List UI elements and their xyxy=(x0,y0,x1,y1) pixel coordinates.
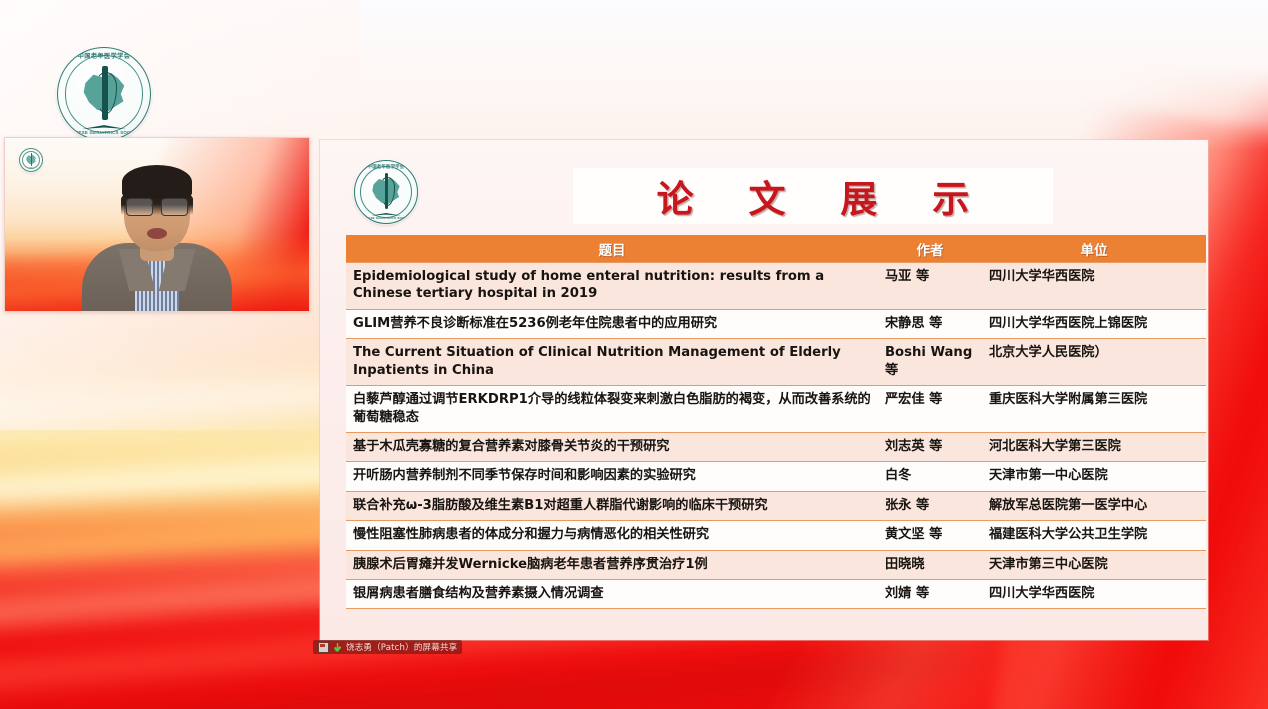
column-header-institution: 单位 xyxy=(982,235,1206,263)
cell-institution: 四川大学华西医院上锦医院 xyxy=(982,309,1206,338)
table-header-row: 题目 作者 单位 xyxy=(346,235,1206,263)
cell-title: 联合补充ω-3脂肪酸及维生素B1对超重人群脂代谢影响的临床干预研究 xyxy=(346,491,878,520)
society-logo-icon: 中国老年医学学会 CHINESE GERIATRICS SOCIETY xyxy=(57,47,151,141)
table-row: 慢性阻塞性肺病患者的体成分和握力与病情恶化的相关性研究 黄文坚 等 福建医科大学… xyxy=(346,521,1206,550)
cell-title: The Current Situation of Clinical Nutrit… xyxy=(346,339,878,386)
screen-share-status-text: 饶志勇（Patch）的屏幕共享 xyxy=(346,641,457,653)
cell-author: 刘婧 等 xyxy=(878,580,982,609)
cell-author: 张永 等 xyxy=(878,491,982,520)
hand-icon xyxy=(333,643,342,652)
cell-author: 田晓晓 xyxy=(878,550,982,579)
cell-title: 开听肠内营养制剂不同季节保存时间和影响因素的实验研究 xyxy=(346,462,878,491)
caduceus-rod-shape xyxy=(31,153,32,166)
cell-institution: 天津市第三中心医院 xyxy=(982,550,1206,579)
cell-title: 银屑病患者膳食结构及营养素摄入情况调查 xyxy=(346,580,878,609)
cell-author: 刘志英 等 xyxy=(878,432,982,461)
table-row: 银屑病患者膳食结构及营养素摄入情况调查 刘婧 等 四川大学华西医院 xyxy=(346,580,1206,609)
cell-institution: 解放军总医院第一医学中心 xyxy=(982,491,1206,520)
table-row: 基于木瓜壳寡糖的复合营养素对膝骨关节炎的干预研究 刘志英 等 河北医科大学第三医… xyxy=(346,432,1206,461)
speaker-video-tile[interactable] xyxy=(4,137,310,312)
cell-title: 胰腺术后胃瘫并发Wernicke脑病老年患者营养序贯治疗1例 xyxy=(346,550,878,579)
cell-title: 基于木瓜壳寡糖的复合营养素对膝骨关节炎的干预研究 xyxy=(346,432,878,461)
table-row: 白藜芦醇通过调节ERKDRP1介导的线粒体裂变来刺激白色脂肪的褐变，从而改善系统… xyxy=(346,386,1206,433)
open-book-shape xyxy=(26,166,37,168)
society-logo-name-cn: 中国老年医学学会 xyxy=(58,54,150,60)
society-logo-name-cn: 中国老年医学学会 xyxy=(355,165,417,169)
society-logo-icon-small xyxy=(19,148,43,172)
cell-author: 白冬 xyxy=(878,462,982,491)
cell-institution: 北京大学人民医院） xyxy=(982,339,1206,386)
monitor-icon xyxy=(318,642,329,653)
cell-title: Epidemiological study of home enteral nu… xyxy=(346,263,878,310)
cell-institution: 河北医科大学第三医院 xyxy=(982,432,1206,461)
open-book-shape xyxy=(82,119,126,129)
cell-author: 马亚 等 xyxy=(878,263,982,310)
table-row: Epidemiological study of home enteral nu… xyxy=(346,263,1206,310)
table-row: 胰腺术后胃瘫并发Wernicke脑病老年患者营养序贯治疗1例 田晓晓 天津市第三… xyxy=(346,550,1206,579)
paper-list-table: 题目 作者 单位 Epidemiological study of home e… xyxy=(346,235,1206,609)
column-header-author: 作者 xyxy=(878,235,982,263)
cell-author: 严宏佳 等 xyxy=(878,386,982,433)
screen-share-status-bar[interactable]: 饶志勇（Patch）的屏幕共享 xyxy=(313,640,462,654)
column-header-title: 题目 xyxy=(346,235,878,263)
speaker-glasses xyxy=(126,198,188,215)
slide-title: 论 文 展 示 xyxy=(636,169,991,223)
speaker-figure xyxy=(82,161,232,311)
cell-institution: 天津市第一中心医院 xyxy=(982,462,1206,491)
meeting-screen-share-view: 中国老年医学学会 CHINESE GERIATRICS SOCIETY xyxy=(0,0,1268,709)
table-row: GLIM营养不良诊断标准在5236例老年住院患者中的应用研究 宋静思 等 四川大… xyxy=(346,309,1206,338)
cell-author: 宋静思 等 xyxy=(878,309,982,338)
cell-institution: 四川大学华西医院 xyxy=(982,580,1206,609)
slide-title-banner: 论 文 展 示 xyxy=(573,168,1053,224)
speaker-mouth xyxy=(147,228,167,239)
speaker-hair xyxy=(122,165,192,199)
shared-slide[interactable]: 中国老年医学学会 CHINESE GERIATRICS SOCIETY 论 文 … xyxy=(320,140,1208,640)
cell-title: 白藜芦醇通过调节ERKDRP1介导的线粒体裂变来刺激白色脂肪的褐变，从而改善系统… xyxy=(346,386,878,433)
open-book-shape xyxy=(371,209,401,216)
glasses-lens-left xyxy=(126,198,153,216)
caduceus-snake-shape xyxy=(380,177,396,206)
society-logo-name-en: CHINESE GERIATRICS SOCIETY xyxy=(58,131,150,135)
cell-institution: 福建医科大学公共卫生学院 xyxy=(982,521,1206,550)
cell-title: GLIM营养不良诊断标准在5236例老年住院患者中的应用研究 xyxy=(346,309,878,338)
caduceus-snake-shape xyxy=(95,72,117,114)
table-row: 开听肠内营养制剂不同季节保存时间和影响因素的实验研究 白冬 天津市第一中心医院 xyxy=(346,462,1206,491)
glasses-lens-right xyxy=(161,198,188,216)
cell-institution: 重庆医科大学附属第三医院 xyxy=(982,386,1206,433)
table-row: 联合补充ω-3脂肪酸及维生素B1对超重人群脂代谢影响的临床干预研究 张永 等 解… xyxy=(346,491,1206,520)
cell-institution: 四川大学华西医院 xyxy=(982,263,1206,310)
society-logo-name-en: CHINESE GERIATRICS SOCIETY xyxy=(355,217,417,220)
cell-title: 慢性阻塞性肺病患者的体成分和握力与病情恶化的相关性研究 xyxy=(346,521,878,550)
slide-society-logo-icon: 中国老年医学学会 CHINESE GERIATRICS SOCIETY xyxy=(354,160,418,224)
cell-author: 黄文坚 等 xyxy=(878,521,982,550)
table-row: The Current Situation of Clinical Nutrit… xyxy=(346,339,1206,386)
table-body: Epidemiological study of home enteral nu… xyxy=(346,263,1206,609)
cell-author: Boshi Wang 等 xyxy=(878,339,982,386)
